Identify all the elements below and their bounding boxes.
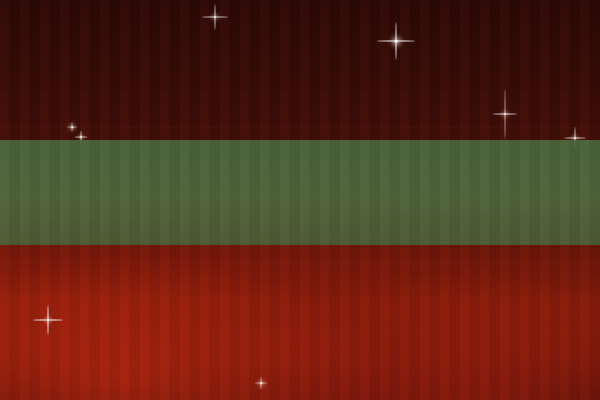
page-title bbox=[0, 160, 600, 198]
news-banner bbox=[0, 0, 600, 400]
